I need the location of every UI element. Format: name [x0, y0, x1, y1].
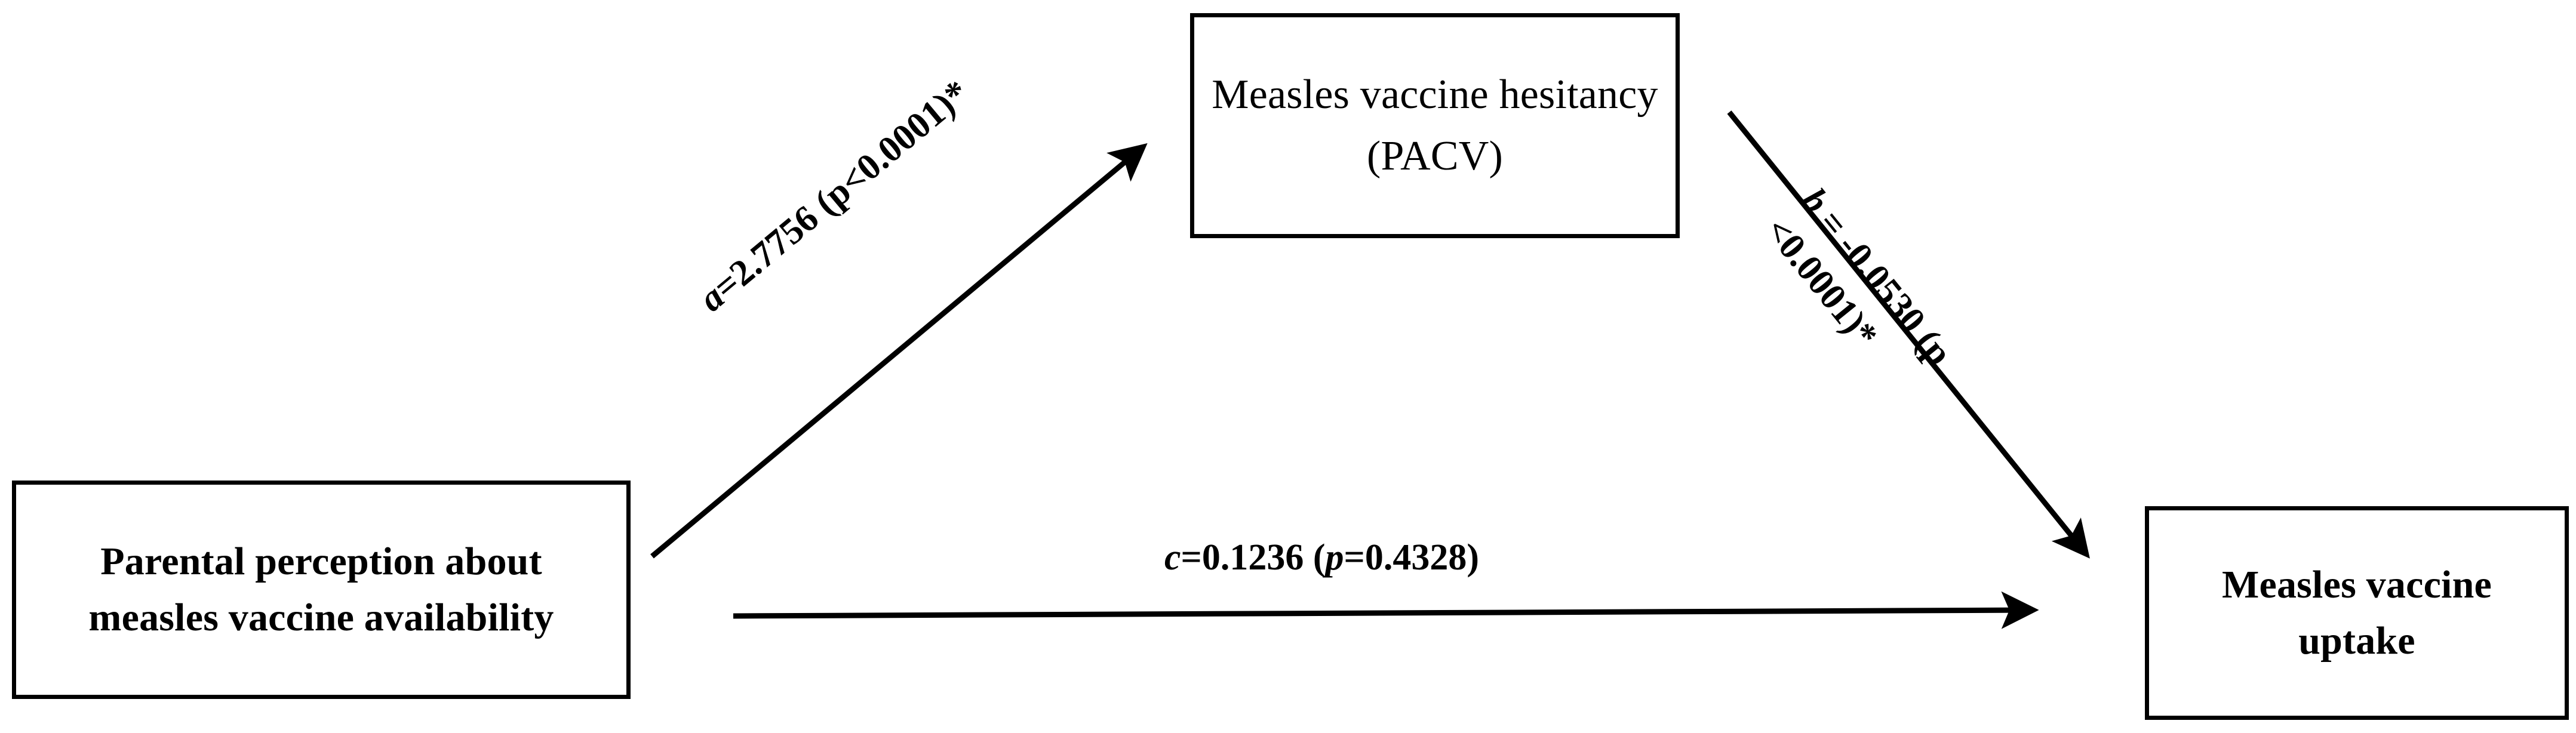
path-a-value: =2.7756 (p<0.0001)* — [706, 72, 977, 307]
node-box-outcome: Measles vaccine uptake — [2145, 506, 2569, 720]
node-label-predictor: Parental perception about measles vaccin… — [16, 534, 626, 645]
node-label-mediator: Measles vaccine hesitancy (PACV) — [1194, 64, 1676, 186]
path-c-p-value: =0.4328) — [1344, 537, 1479, 578]
node-label-outcome: Measles vaccine uptake — [2149, 557, 2565, 669]
path-c-value: =0.1236 ( — [1181, 537, 1326, 578]
node-box-mediator: Measles vaccine hesitancy (PACV) — [1190, 13, 1680, 238]
diagram-canvas: Parental perception about measles vaccin… — [0, 0, 2576, 733]
node-box-predictor: Parental perception about measles vaccin… — [12, 481, 631, 699]
arrow-path-a — [652, 148, 1142, 556]
path-label-a: a=2.7756 (p<0.0001)* — [690, 70, 979, 322]
path-c-p-symbol: p — [1326, 537, 1344, 578]
path-c-coefficient-symbol: c — [1164, 537, 1181, 578]
path-label-c: c=0.1236 (p=0.4328) — [1164, 534, 1479, 581]
path-label-b: b = -0.0530 (p <0.0001)* — [1755, 179, 1962, 404]
arrow-path-c — [733, 610, 2031, 616]
